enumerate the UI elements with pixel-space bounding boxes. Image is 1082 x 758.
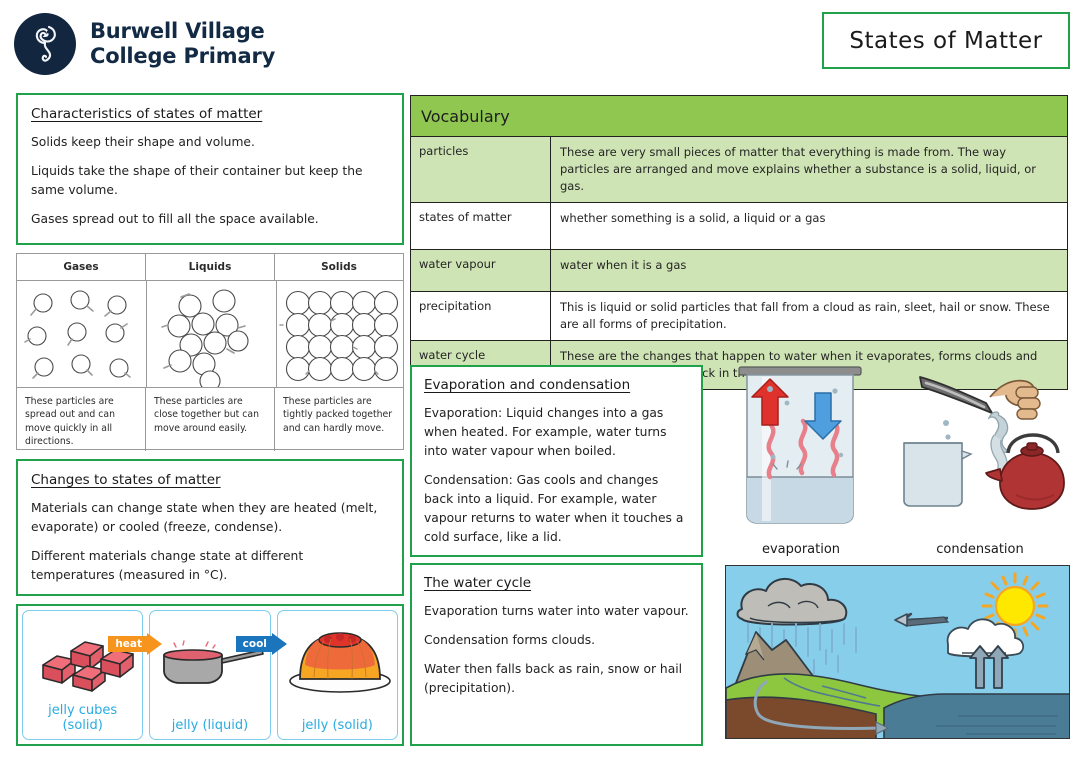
liquid-particles-diagram	[147, 281, 277, 387]
school-name: Burwell Village College Primary	[90, 19, 275, 69]
evaporation-text-0: Evaporation: Liquid changes into a gas w…	[424, 404, 689, 461]
particle-arrangement-table: Gases Liquids Solids	[16, 253, 404, 450]
vocab-definition-1: whether something is a solid, a liquid o…	[551, 203, 1067, 249]
page-title-box: States of Matter	[822, 12, 1070, 69]
water-cycle-diagram	[725, 565, 1070, 739]
evaporation-condensation-panel: Evaporation and condensation Evaporation…	[410, 365, 703, 557]
characteristics-text-0: Solids keep their shape and volume.	[31, 133, 389, 152]
heat-arrow: heat	[108, 633, 162, 655]
heat-arrow-label: heat	[108, 636, 147, 653]
knowledge-organiser-page: Burwell Village College Primary States o…	[0, 0, 1082, 758]
jelly-label-1: jelly (liquid)	[172, 719, 248, 733]
particle-header-liquids: Liquids	[146, 254, 275, 280]
water-cycle-heading: The water cycle	[424, 575, 689, 591]
vocab-term-1: states of matter	[411, 203, 551, 249]
characteristics-panel: Characteristics of states of matter Soli…	[16, 93, 404, 245]
solid-particles-description: These particles are tightly packed toget…	[275, 388, 403, 451]
evaporation-illustration: evaporation	[712, 365, 890, 557]
school-branding: Burwell Village College Primary	[14, 13, 275, 75]
particle-header-gases: Gases	[17, 254, 146, 280]
jelly-panel-solid-mould: cool	[277, 610, 398, 740]
liquid-particles-description: These particles are close together but c…	[146, 388, 275, 451]
vocabulary-heading: Vocabulary	[411, 96, 1067, 137]
cool-arrow-head-icon	[272, 633, 287, 655]
vocabulary-row-states-of-matter: states of matter whether something is a …	[411, 203, 1067, 250]
changes-panel: Changes to states of matter Materials ca…	[16, 459, 404, 596]
jelly-mould-icon	[278, 621, 397, 695]
characteristics-heading: Characteristics of states of matter	[31, 106, 389, 122]
vocab-term-0: particles	[411, 137, 551, 202]
jelly-label-2: jelly (solid)	[302, 719, 373, 733]
vocabulary-row-water-vapour: water vapour water when it is a gas	[411, 250, 1067, 292]
evaporation-caption: evaporation	[762, 542, 840, 557]
vocabulary-table: Vocabulary particles These are very smal…	[410, 95, 1068, 390]
changes-heading: Changes to states of matter	[31, 472, 389, 488]
water-cycle-text-1: Condensation forms clouds.	[424, 631, 689, 650]
beaker-with-arrows-icon	[715, 365, 887, 537]
water-cycle-text-2: Water then falls back as rain, snow or h…	[424, 660, 689, 698]
particle-table-header-row: Gases Liquids Solids	[17, 254, 403, 280]
condensation-caption: condensation	[936, 542, 1023, 557]
vocabulary-row-precipitation: precipitation This is liquid or solid pa…	[411, 292, 1067, 341]
vocabulary-row-particles: particles These are very small pieces of…	[411, 137, 1067, 203]
particle-header-solids: Solids	[275, 254, 403, 280]
jelly-state-change-panel: jelly cubes (solid) heat	[16, 604, 404, 746]
evaporation-heading: Evaporation and condensation	[424, 377, 689, 393]
changes-text-0: Materials can change state when they are…	[31, 499, 389, 537]
particle-table-diagram-row	[17, 280, 403, 388]
jelly-label-0: jelly cubes (solid)	[48, 704, 117, 733]
vocab-definition-0: These are very small pieces of matter th…	[551, 137, 1067, 202]
gas-particles-description: These particles are spread out and can m…	[17, 388, 146, 451]
kettle-steam-spatula-icon	[890, 365, 1070, 537]
evaporation-text-1: Condensation: Gas cools and changes back…	[424, 471, 689, 547]
water-cycle-panel: The water cycle Evaporation turns water …	[410, 563, 703, 746]
solid-particles-diagram	[277, 281, 404, 387]
characteristics-text-1: Liquids take the shape of their containe…	[31, 162, 389, 200]
swan-crest-logo-icon	[14, 13, 76, 75]
heat-arrow-head-icon	[147, 633, 162, 655]
process-illustrations: evaporation	[712, 365, 1070, 557]
jelly-panel-liquid: heat jelly (liquid)	[149, 610, 270, 740]
gas-particles-diagram	[17, 281, 147, 387]
water-cycle-text-0: Evaporation turns water into water vapou…	[424, 602, 689, 621]
cool-arrow-label: cool	[236, 636, 272, 653]
page-title: States of Matter	[849, 28, 1042, 54]
vocab-term-2: water vapour	[411, 250, 551, 291]
characteristics-text-2: Gases spread out to fill all the space a…	[31, 210, 389, 229]
page-header: Burwell Village College Primary States o…	[0, 0, 1082, 88]
changes-text-1: Different materials change state at diff…	[31, 547, 389, 585]
cool-arrow: cool	[236, 633, 287, 655]
vocab-definition-3: This is liquid or solid particles that f…	[551, 292, 1067, 340]
vocab-definition-2: water when it is a gas	[551, 250, 1067, 291]
particle-table-description-row: These particles are spread out and can m…	[17, 388, 403, 451]
jelly-panel-solid-cubes: jelly cubes (solid)	[22, 610, 143, 740]
vocab-term-3: precipitation	[411, 292, 551, 340]
condensation-illustration: condensation	[890, 365, 1070, 557]
